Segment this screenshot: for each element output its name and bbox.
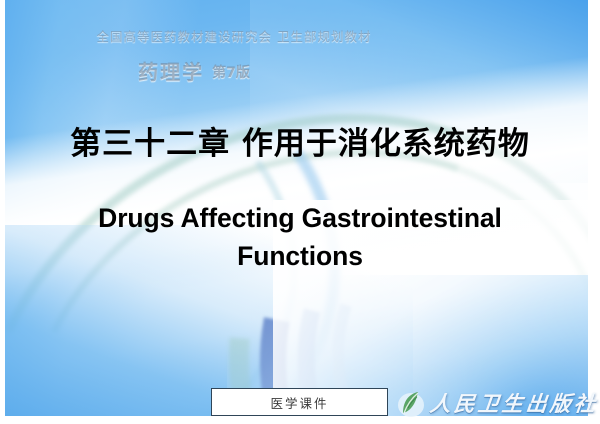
leaf-emblem-icon bbox=[396, 388, 426, 418]
book-title-group: 药理学第7版 bbox=[0, 56, 494, 85]
chapter-title-english-line-1: Drugs Affecting Gastrointestinal bbox=[42, 200, 558, 238]
courseware-label-box: 医学课件 bbox=[211, 388, 388, 416]
chapter-title-chinese: 第三十二章 作用于消化系统药物 bbox=[0, 118, 600, 163]
publisher-logo: 人民卫生出版社 bbox=[396, 384, 592, 422]
chapter-title-english-line-2: Functions bbox=[42, 238, 558, 276]
chapter-title-english: Drugs Affecting Gastrointestinal Functio… bbox=[42, 200, 558, 275]
courseware-label-text: 医学课件 bbox=[270, 393, 328, 412]
slide-content: 全国高等医药教材建设研究会 卫生部规划教材 药理学第7版 第三十二章 作用于消化… bbox=[0, 0, 600, 424]
book-title-text: 药理学 bbox=[138, 60, 204, 84]
presentation-slide: 全国高等医药教材建设研究会 卫生部规划教材 药理学第7版 第三十二章 作用于消化… bbox=[0, 0, 600, 424]
textbook-series-line: 全国高等医药教材建设研究会 卫生部规划教材 bbox=[0, 26, 534, 45]
publisher-name-text: 人民卫生出版社 bbox=[428, 388, 599, 418]
book-edition-text: 第7版 bbox=[212, 65, 250, 81]
